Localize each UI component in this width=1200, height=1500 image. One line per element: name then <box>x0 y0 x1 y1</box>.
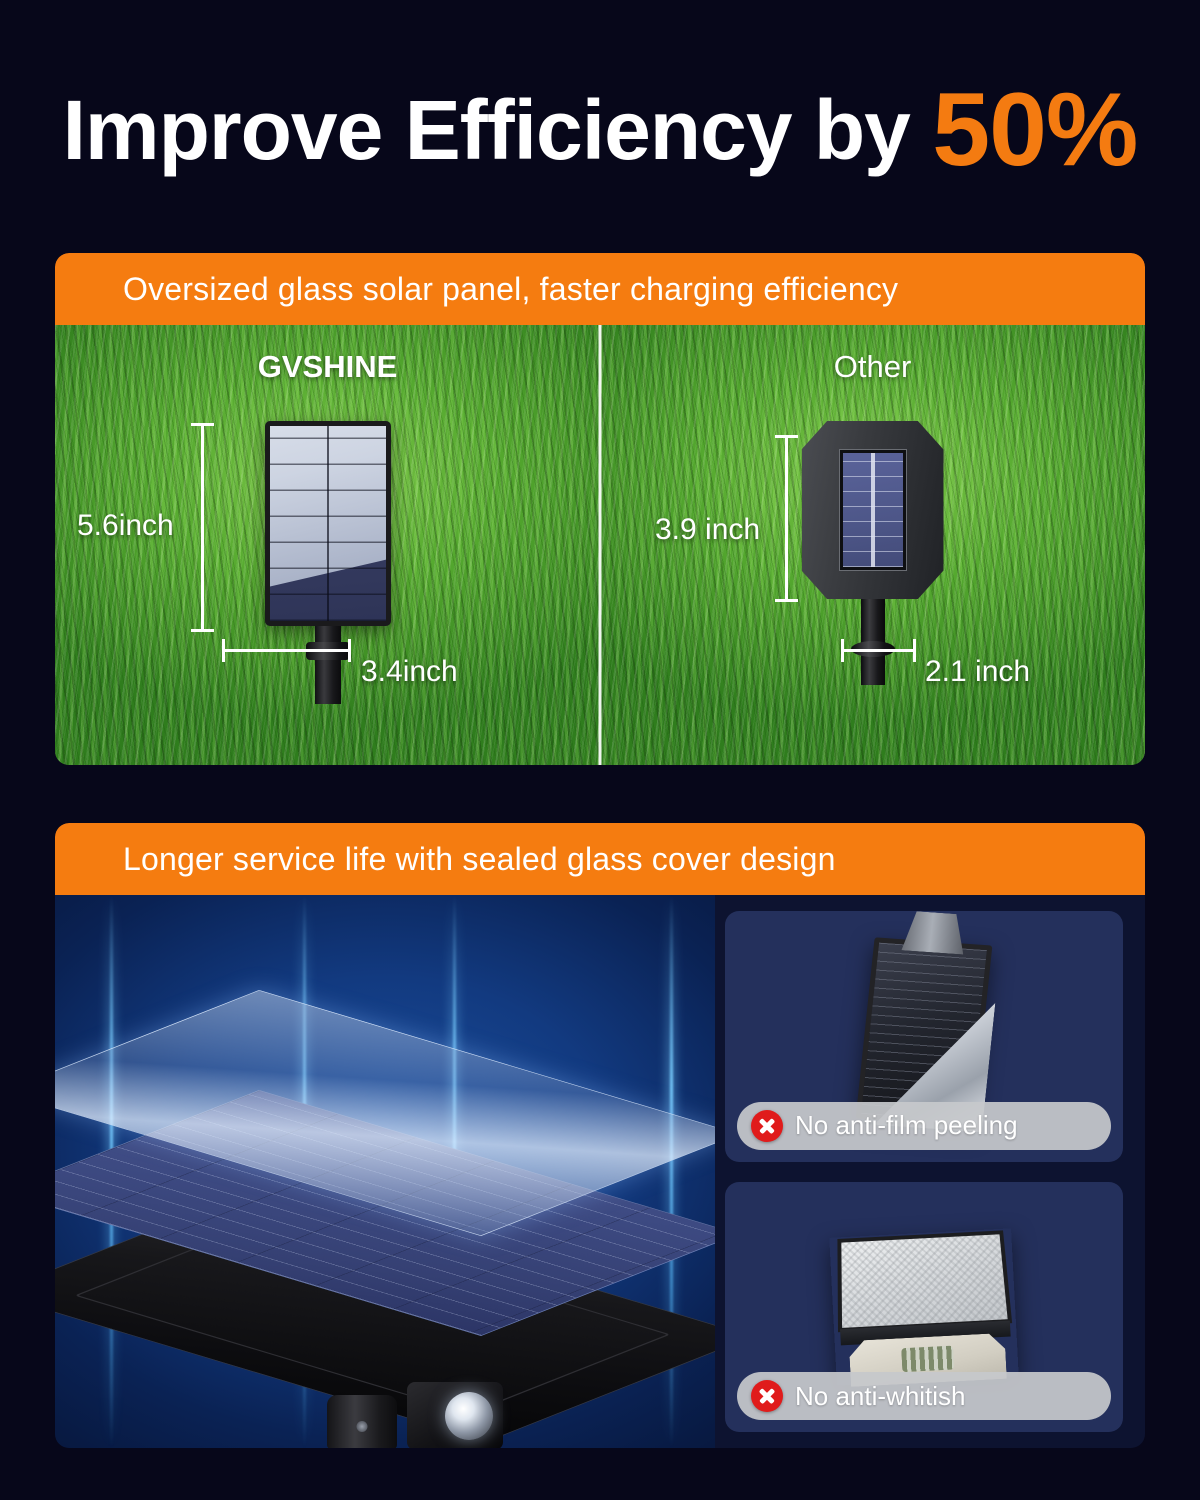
whitish-solar-lamp-photo <box>829 1228 1018 1385</box>
other-solar-lamp <box>802 421 944 685</box>
right-width-tick-right <box>913 639 916 662</box>
callout-film-peeling: No anti-film peeling <box>737 1102 1111 1150</box>
gvshine-ground-stake <box>315 626 341 704</box>
negative-examples-column: No anti-film peeling No anti-whitish <box>715 895 1145 1448</box>
left-width-tick-right <box>348 639 351 662</box>
left-height-line <box>201 423 204 632</box>
comparison-divider <box>599 325 602 765</box>
left-width-line <box>222 649 351 652</box>
right-height-label: 3.9 inch <box>655 513 760 547</box>
sealed-glass-card: Longer service life with sealed glass co… <box>55 823 1145 1448</box>
product-lamp-head <box>407 1382 503 1448</box>
other-solar-housing <box>802 421 944 599</box>
page-title: Improve Efficiency by 50% <box>0 78 1200 182</box>
left-width-tick-left <box>222 639 225 662</box>
product-mount-arm <box>327 1395 397 1448</box>
photo-card-film-peeling: No anti-film peeling <box>725 911 1123 1162</box>
right-width-tick-left <box>841 639 844 662</box>
left-width-label: 3.4inch <box>361 655 458 689</box>
whitish-panel-surface <box>837 1230 1012 1332</box>
sealed-glass-banner-label: Longer service life with sealed glass co… <box>123 841 836 878</box>
peeling-panel-mount <box>901 911 967 955</box>
brand-label-gvshine: GVSHINE <box>55 349 600 385</box>
peeling-solar-panel-photo <box>856 938 993 1127</box>
brand-label-other: Other <box>600 349 1145 385</box>
left-height-label: 5.6inch <box>77 509 174 543</box>
callout-film-peeling-label: No anti-film peeling <box>795 1110 1018 1141</box>
comparison-left-half: GVSHINE 5.6inch 3 <box>55 325 600 765</box>
gvshine-panel-cell-grid <box>270 426 386 621</box>
comparison-banner-label: Oversized glass solar panel, faster char… <box>123 271 898 308</box>
comparison-right-half: Other 3.9 inch 2. <box>600 325 1145 765</box>
callout-whitish: No anti-whitish <box>737 1372 1111 1420</box>
x-circle-icon <box>751 1110 783 1142</box>
sealed-glass-body: No anti-film peeling No anti-whitish <box>55 895 1145 1448</box>
comparison-card: Oversized glass solar panel, faster char… <box>55 253 1145 765</box>
product-feature-page: Improve Efficiency by 50% Oversized glas… <box>0 0 1200 1500</box>
left-height-tick-bottom <box>191 629 214 632</box>
sealed-glass-banner: Longer service life with sealed glass co… <box>55 823 1145 895</box>
photo-card-whitish: No anti-whitish <box>725 1182 1123 1433</box>
grass-scene: GVSHINE 5.6inch 3 <box>55 325 1145 765</box>
right-width-label: 2.1 inch <box>925 655 1030 689</box>
right-width-line <box>841 649 916 652</box>
right-height-tick-bottom <box>775 599 798 602</box>
other-cell-face <box>843 453 903 567</box>
right-height-tick-top <box>775 435 798 438</box>
left-height-tick-top <box>191 423 214 426</box>
callout-whitish-label: No anti-whitish <box>795 1381 966 1412</box>
gvshine-solar-panel <box>265 421 391 626</box>
other-solar-cell <box>839 449 907 571</box>
x-circle-icon <box>751 1380 783 1412</box>
other-ground-stake <box>861 599 885 685</box>
gvshine-panel-face <box>270 426 386 621</box>
headline-main-text: Improve Efficiency by <box>63 83 910 177</box>
headline-accent-text: 50% <box>932 72 1137 188</box>
exploded-view-scene <box>55 895 715 1448</box>
exploded-layers <box>55 895 715 1448</box>
comparison-banner: Oversized glass solar panel, faster char… <box>55 253 1145 325</box>
right-height-line <box>785 435 788 602</box>
